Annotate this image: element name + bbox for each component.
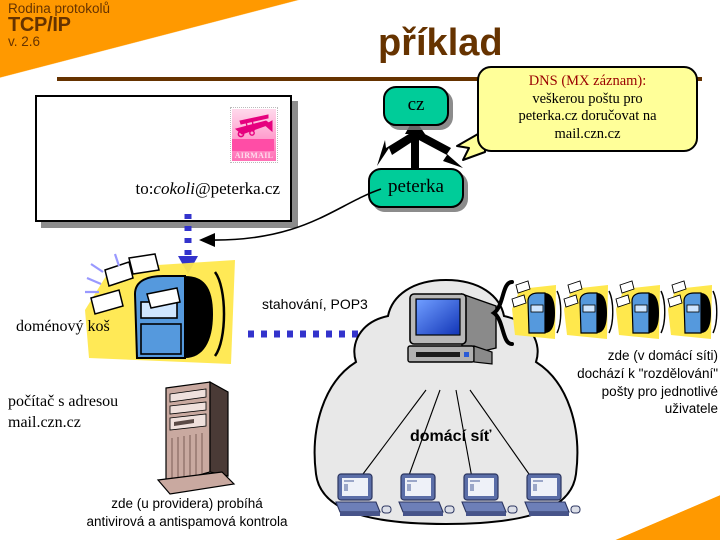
callout-line-4: mail.czn.cz [485, 126, 690, 144]
callout-line-2: veškerou poštu pro [485, 91, 690, 109]
dns-callout: DNS (MX záznam): veškerou poštu pro pete… [477, 66, 698, 152]
dns-node-peterka-label: peterka [388, 176, 444, 197]
header-block: Rodina protokolů TCP/IP v. 2.6 [8, 2, 110, 50]
distribution-caption: zde (v domácí síti) dochází k "rozdělová… [540, 347, 718, 418]
user-mailboxes-row [512, 283, 712, 345]
delivery-curve-arrow [185, 185, 385, 255]
server-tower-icon [148, 380, 240, 500]
domain-basket-label: doménový koš [16, 318, 110, 336]
dns-node-cz[interactable]: cz [383, 86, 449, 126]
distribution-caption-line4: uživatele [540, 400, 718, 418]
home-client-computers [336, 472, 576, 520]
mail-server-label-line1: počítač s adresou [8, 392, 118, 413]
mail-server-label: počítač s adresou mail.czn.cz [8, 392, 118, 434]
stamp-label: AIRMAIL [232, 151, 276, 160]
airmail-stamp: AIRMAIL [230, 107, 278, 163]
provider-caption-line2: antivirová a antispamová kontrola [62, 513, 312, 531]
header-line-2: TCP/IP [8, 15, 110, 36]
biplane-icon [232, 109, 274, 157]
domain-mailbox-icon [85, 258, 235, 368]
envelope-to-prefix: to: [135, 179, 153, 198]
provider-caption-line1: zde (u providera) probíhá [62, 495, 312, 513]
dns-node-cz-label: cz [408, 94, 425, 115]
callout-heading: DNS (MX záznam): [485, 73, 690, 91]
page-title: příklad [378, 22, 503, 65]
desktop-computer-icon [404, 288, 500, 374]
callout-line-3: peterka.cz doručovat na [485, 108, 690, 126]
distribution-caption-line3: pošty pro jednotlivé [540, 383, 718, 401]
slide-canvas: Rodina protokolů TCP/IP v. 2.6 příklad D… [0, 0, 720, 540]
bottom-right-orange-corner [615, 495, 720, 540]
distribution-caption-line1: zde (v domácí síti) [540, 347, 718, 365]
home-network-label: domácí síť [410, 428, 491, 446]
provider-caption: zde (u providera) probíhá antivirová a a… [62, 495, 312, 531]
mail-server-label-line2: mail.czn.cz [8, 413, 118, 434]
header-line-3: v. 2.6 [8, 35, 110, 49]
distribution-caption-line2: dochází k "rozdělování" [540, 365, 718, 383]
